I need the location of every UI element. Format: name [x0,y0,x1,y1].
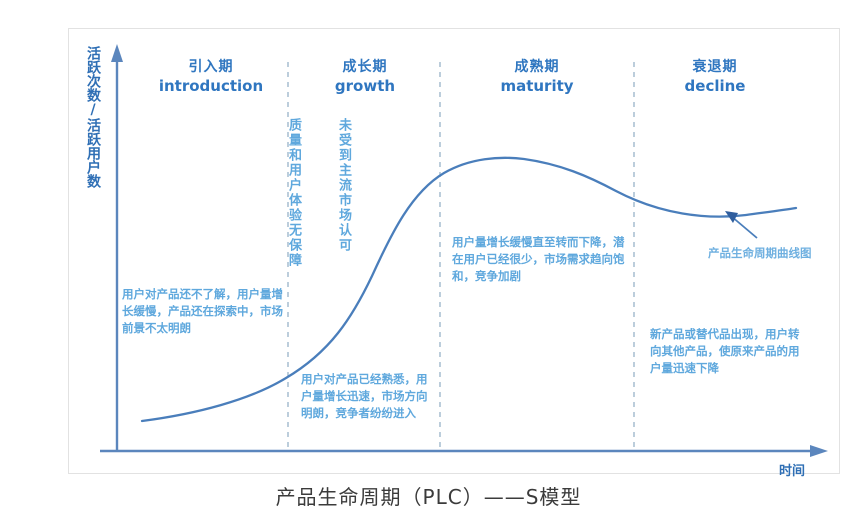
stage-heading-maturity-cn: 成熟期 [458,58,616,77]
y-axis-label: 活跃次数/活跃用户数 [80,46,102,188]
stage-heading-decline-en: decline [640,77,790,96]
maturity-note: 用户量增长缓慢直至转而下降，潜在用户已经很少，市场需求趋向饱和，竞争加剧 [452,234,628,285]
stage-heading-growth: 成长期 growth [292,58,438,96]
x-axis-label: 时间 [779,460,805,479]
curve-callout-label: 产品生命周期曲线图 [708,245,812,261]
stage-heading-maturity: 成熟期 maturity [458,58,616,96]
stage-heading-growth-cn: 成长期 [292,58,438,77]
introduction-note: 用户对产品还不了解，用户量增长缓慢，产品还在探索中，市场前景不太明朗 [122,286,288,337]
stage-heading-maturity-en: maturity [458,77,616,96]
stage-heading-introduction-en: introduction [136,77,286,96]
figure-root: 活跃次数/活跃用户数 时间 引入期 introduction 成长期 growt… [0,0,857,521]
stage-heading-introduction: 引入期 introduction [136,58,286,96]
growth-note: 用户对产品已经熟悉，用户量增长迅速，市场方向明朗，竞争者纷纷进入 [301,371,431,422]
stage-heading-growth-en: growth [292,77,438,96]
stage-heading-decline: 衰退期 decline [640,58,790,96]
figure-caption: 产品生命周期（PLC）——S模型 [0,481,857,510]
stage-heading-introduction-cn: 引入期 [136,58,286,77]
stage-heading-decline-cn: 衰退期 [640,58,790,77]
growth-vnote-market: 未受到主流市场认可 [334,118,352,314]
decline-note: 新产品或替代品出现，用户转向其他产品，使原来产品的用户量迅速下降 [650,326,810,377]
growth-vnote-quality: 质量和用户体验无保障 [284,118,302,314]
